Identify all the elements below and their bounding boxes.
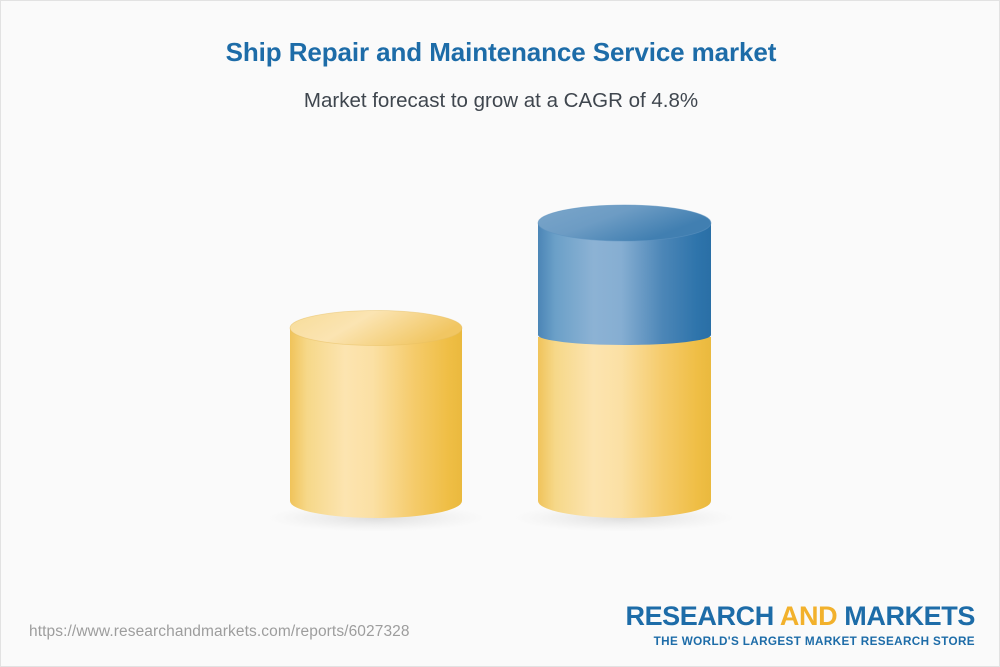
chart-plot-area: USD 35.9 Billion 2024 USD 58.6 Billion 2… xyxy=(1,1,1000,667)
logo-wordmark: RESEARCH AND MARKETS xyxy=(625,603,975,630)
logo-word-and: AND xyxy=(774,601,845,631)
brand-logo[interactable]: RESEARCH AND MARKETS THE WORLD'S LARGEST… xyxy=(625,603,975,648)
logo-word-markets: MARKETS xyxy=(844,601,975,631)
logo-word-research: RESEARCH xyxy=(625,601,773,631)
bar-2024 xyxy=(290,311,462,519)
logo-tagline: THE WORLD'S LARGEST MARKET RESEARCH STOR… xyxy=(625,630,975,648)
bar-2034 xyxy=(538,205,711,518)
cylinder-bars-graphic xyxy=(1,1,1000,667)
source-url[interactable]: https://www.researchandmarkets.com/repor… xyxy=(29,623,410,641)
infographic-canvas: Ship Repair and Maintenance Service mark… xyxy=(0,0,1000,667)
